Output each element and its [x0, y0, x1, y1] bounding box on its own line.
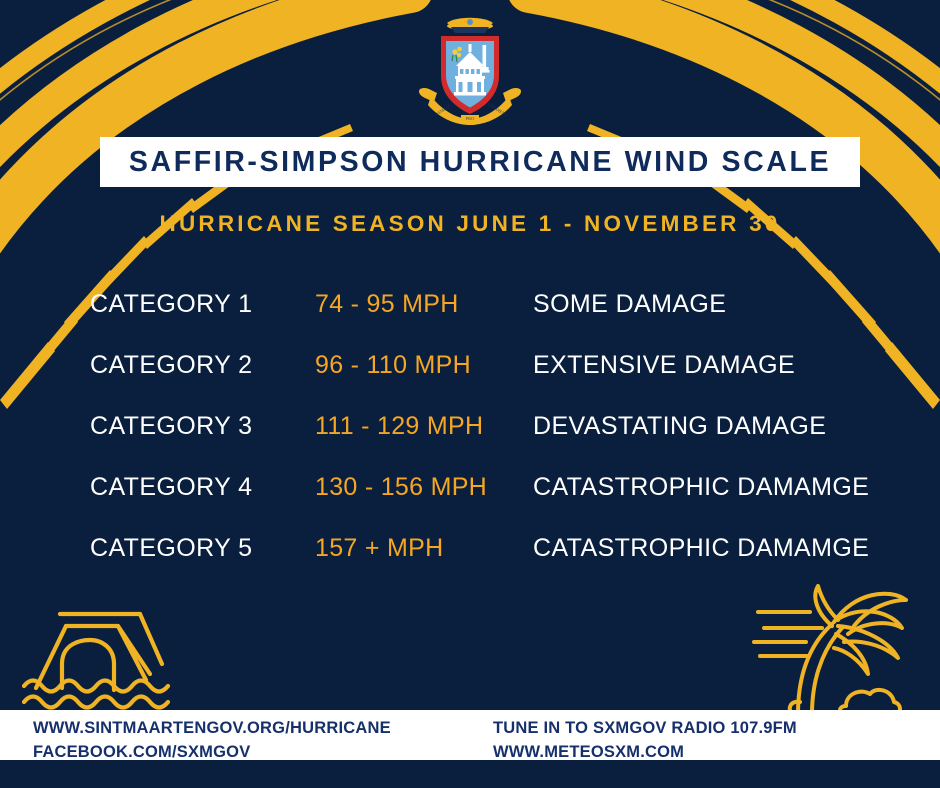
footer-right-links: TUNE IN TO SXMGOV RADIO 107.9FM WWW.METE… — [493, 716, 797, 764]
category-label: CATEGORY 1 — [90, 288, 252, 320]
wind-blown-palm-tree-icon — [750, 582, 922, 720]
season-subtitle: HURRICANE SEASON JUNE 1 - NOVEMBER 30 — [0, 211, 940, 237]
table-row: CATEGORY 4 130 - 156 MPH CATASTROPHIC DA… — [0, 471, 940, 532]
table-row: CATEGORY 2 96 - 110 MPH EXTENSIVE DAMAGE — [0, 349, 940, 410]
wind-speed-value: 96 - 110 MPH — [315, 349, 471, 381]
damage-description: SOME DAMAGE — [533, 288, 726, 320]
damage-description: EXTENSIVE DAMAGE — [533, 349, 795, 381]
footer-band: WWW.SINTMAARTENGOV.ORG/HURRICANE FACEBOO… — [0, 710, 940, 760]
category-label: CATEGORY 5 — [90, 532, 252, 564]
category-label: CATEGORY 2 — [90, 349, 252, 381]
footer-website-link[interactable]: WWW.SINTMAARTENGOV.ORG/HURRICANE — [33, 716, 391, 740]
footer-left-links: WWW.SINTMAARTENGOV.ORG/HURRICANE FACEBOO… — [33, 716, 391, 764]
wind-speed-value: 111 - 129 MPH — [315, 410, 483, 442]
wind-scale-table: CATEGORY 1 74 - 95 MPH SOME DAMAGE CATEG… — [0, 288, 940, 593]
table-row: CATEGORY 1 74 - 95 MPH SOME DAMAGE — [0, 288, 940, 349]
category-label: CATEGORY 4 — [90, 471, 252, 503]
svg-text:PRO: PRO — [466, 116, 475, 121]
footer-radio-info: TUNE IN TO SXMGOV RADIO 107.9FM — [493, 716, 797, 740]
damage-description: CATASTROPHIC DAMAMGE — [533, 532, 869, 564]
flooded-house-icon — [22, 598, 182, 716]
table-row: CATEGORY 3 111 - 129 MPH DEVASTATING DAM… — [0, 410, 940, 471]
footer-base-strip — [0, 760, 940, 788]
wind-speed-value: 130 - 156 MPH — [315, 471, 487, 503]
hurricane-wind-scale-poster: SEMPER PRO GREDIENS SAFFIR-SIMPSON HURRI… — [0, 0, 940, 788]
wind-speed-value: 74 - 95 MPH — [315, 288, 459, 320]
page-title: SAFFIR-SIMPSON HURRICANE WIND SCALE — [129, 146, 831, 179]
sint-maarten-coat-of-arms-icon: SEMPER PRO GREDIENS — [411, 14, 529, 126]
title-band: SAFFIR-SIMPSON HURRICANE WIND SCALE — [100, 137, 860, 187]
damage-description: CATASTROPHIC DAMAMGE — [533, 471, 869, 503]
wind-speed-value: 157 + MPH — [315, 532, 443, 564]
damage-description: DEVASTATING DAMAGE — [533, 410, 826, 442]
category-label: CATEGORY 3 — [90, 410, 252, 442]
